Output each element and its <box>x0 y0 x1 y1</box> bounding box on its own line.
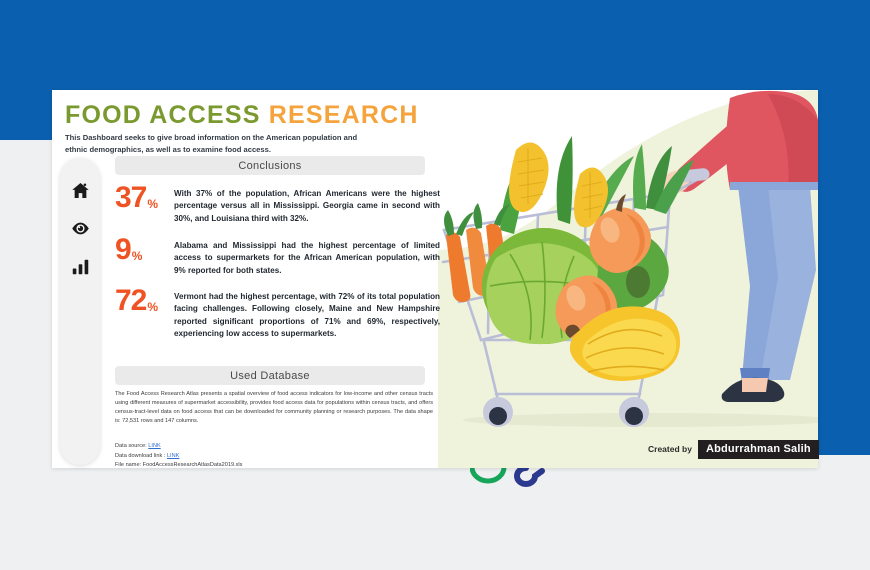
sidebar-item-home[interactable] <box>67 177 93 203</box>
credit-author: Abdurrahman Salih <box>698 440 819 459</box>
conclusion-number: 72 <box>115 288 146 314</box>
data-download-label: Data download link : <box>115 453 165 459</box>
dashboard-card: FOOD ACCESS RESEARCH This Dashboard seek… <box>52 90 818 468</box>
data-download-link[interactable]: LINK <box>167 453 179 459</box>
database-meta: Data source: LINK Data download link : L… <box>115 442 433 468</box>
home-icon <box>71 181 90 200</box>
conclusion-percent-sign: % <box>147 302 158 312</box>
screen: FOOD ACCESS RESEARCH This Dashboard seek… <box>0 0 870 570</box>
page-title-part2: RESEARCH <box>269 101 419 129</box>
background-grey-left <box>0 140 60 470</box>
sidebar-item-charts[interactable] <box>67 253 93 279</box>
database-meta-row: Data source: LINK <box>115 442 433 452</box>
conclusion-item: 9 % Alabama and Mississippi had the high… <box>115 237 440 277</box>
conclusion-value: 9 % <box>115 237 167 263</box>
illustration-grocery-cart <box>438 90 818 468</box>
conclusion-value: 37 % <box>115 185 167 211</box>
used-database-heading: Used Database <box>115 366 425 385</box>
content-column: FOOD ACCESS RESEARCH This Dashboard seek… <box>52 90 444 468</box>
sidebar-item-overview[interactable] <box>67 215 93 241</box>
database-description: The Food Access Research Atlas presents … <box>115 390 433 426</box>
data-source-label: Data source: <box>115 443 147 449</box>
sidebar-nav <box>60 158 100 465</box>
conclusion-text: With 37% of the population, African Amer… <box>174 185 440 225</box>
conclusion-number: 37 <box>115 185 146 211</box>
credit-prefix: Created by <box>648 444 692 454</box>
file-name-label: File name: FoodAccessResearchAtlasData20… <box>115 462 242 468</box>
database-meta-row: Data download link : LINK <box>115 452 433 462</box>
page-title-part1: FOOD ACCESS <box>65 101 261 129</box>
conclusion-text: Vermont had the highest percentage, with… <box>174 288 440 340</box>
data-source-link[interactable]: LINK <box>148 443 160 449</box>
page-title: FOOD ACCESS RESEARCH <box>65 101 419 130</box>
bar-chart-icon <box>71 257 90 276</box>
conclusion-percent-sign: % <box>132 251 143 261</box>
partial-logo <box>470 466 560 488</box>
conclusion-text: Alabama and Mississippi had the highest … <box>174 237 440 277</box>
background-blue-top-band <box>0 0 870 92</box>
conclusions-heading: Conclusions <box>115 156 425 175</box>
conclusion-number: 9 <box>115 237 131 263</box>
conclusion-value: 72 % <box>115 288 167 314</box>
conclusion-percent-sign: % <box>147 199 158 209</box>
page-subtitle: This Dashboard seeks to give broad infor… <box>65 132 375 156</box>
conclusion-item: 37 % With 37% of the population, African… <box>115 185 440 225</box>
conclusion-item: 72 % Vermont had the highest percentage,… <box>115 288 440 340</box>
eye-icon <box>71 219 90 238</box>
background-grey-bottom <box>0 455 870 570</box>
database-meta-row: File name: FoodAccessResearchAtlasData20… <box>115 461 433 468</box>
credit-badge: Created by Abdurrahman Salih <box>648 440 819 458</box>
